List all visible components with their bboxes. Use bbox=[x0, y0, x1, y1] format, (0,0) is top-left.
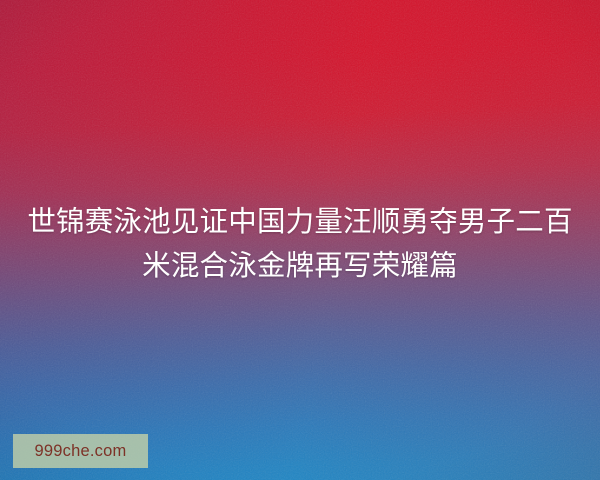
watermark-badge: 999che.com bbox=[13, 434, 148, 468]
watermark-label: 999che.com bbox=[35, 443, 127, 460]
page-title: 世锦赛泳池见证中国力量汪顺勇夺男子二百米混合泳金牌再写荣耀篇 bbox=[0, 200, 600, 288]
poster-canvas: 世锦赛泳池见证中国力量汪顺勇夺男子二百米混合泳金牌再写荣耀篇 999che.co… bbox=[0, 0, 600, 480]
